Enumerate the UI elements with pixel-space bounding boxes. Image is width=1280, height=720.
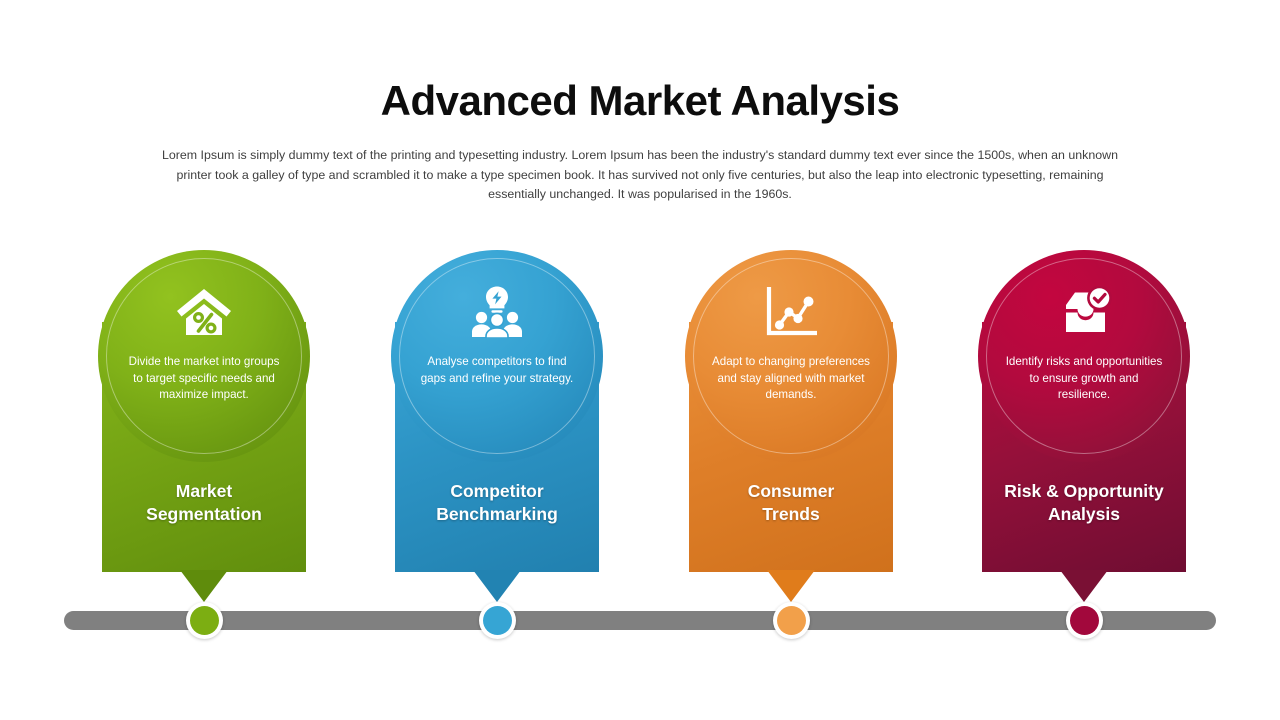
timeline-marker-market-segmentation[interactable]: [186, 602, 223, 639]
lightbulb-people-icon: [391, 284, 603, 340]
pin-description: Divide the market into groups to target …: [124, 354, 284, 404]
pin-label-line-2: Analysis: [984, 503, 1184, 526]
timeline-bar: [64, 611, 1216, 630]
slide-canvas: Advanced Market Analysis Lorem Ipsum is …: [0, 0, 1280, 720]
pin-competitor-benchmarking[interactable]: Analyse competitors to find gaps and ref…: [391, 250, 603, 635]
timeline-marker-core: [1070, 606, 1099, 635]
timeline-marker-core: [483, 606, 512, 635]
pin-label-line-1: Competitor: [397, 480, 597, 503]
pin-label: Competitor Benchmarking: [397, 480, 597, 525]
pin-label: Risk & Opportunity Analysis: [984, 480, 1184, 525]
pin-label: Market Segmentation: [104, 480, 304, 525]
line-chart-icon: [685, 284, 897, 340]
pin-label-line-2: Trends: [691, 503, 891, 526]
pin-tip: [473, 570, 521, 602]
pin-consumer-trends[interactable]: Adapt to changing preferences and stay a…: [685, 250, 897, 635]
timeline-marker-core: [777, 606, 806, 635]
pin-label-line-2: Segmentation: [104, 503, 304, 526]
pin-description: Identify risks and opportunities to ensu…: [1004, 354, 1164, 404]
pin-tip: [1060, 570, 1108, 602]
pin-tip: [180, 570, 228, 602]
page-subtitle: Lorem Ipsum is simply dummy text of the …: [150, 146, 1130, 205]
pin-label-line-1: Market: [104, 480, 304, 503]
page-title: Advanced Market Analysis: [0, 76, 1280, 126]
timeline-marker-core: [190, 606, 219, 635]
timeline-marker-competitor-benchmarking[interactable]: [479, 602, 516, 639]
pin-risk-opportunity-analysis[interactable]: Identify risks and opportunities to ensu…: [978, 250, 1190, 635]
timeline-marker-consumer-trends[interactable]: [773, 602, 810, 639]
inbox-check-icon: [978, 284, 1190, 340]
pin-label-line-1: Risk & Opportunity: [984, 480, 1184, 503]
pin-label-line-2: Benchmarking: [397, 503, 597, 526]
timeline-marker-risk-opportunity-analysis[interactable]: [1066, 602, 1103, 639]
pin-description: Adapt to changing preferences and stay a…: [711, 354, 871, 404]
pin-market-segmentation[interactable]: Divide the market into groups to target …: [98, 250, 310, 635]
pin-tip: [767, 570, 815, 602]
pin-label: Consumer Trends: [691, 480, 891, 525]
pin-description: Analyse competitors to find gaps and ref…: [417, 354, 577, 387]
pin-label-line-1: Consumer: [691, 480, 891, 503]
house-percent-icon: [98, 284, 310, 340]
